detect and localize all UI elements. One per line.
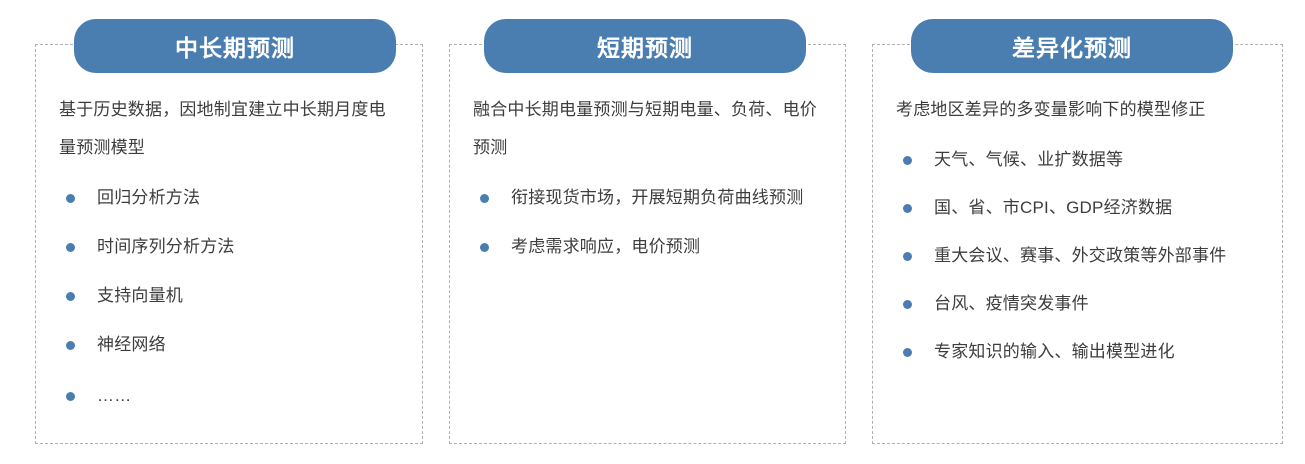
list-item: 时间序列分析方法 <box>59 230 402 263</box>
panel-body-short-term: 融合中长期电量预测与短期电量、负荷、电价预测 衔接现货市场，开展短期负荷曲线预测… <box>450 91 845 279</box>
list-item: 重大会议、赛事、外交政策等外部事件 <box>896 239 1262 272</box>
panel-body-differentiated: 考虑地区差异的多变量影响下的模型修正 天气、气候、业扩数据等 国、省、市CPI、… <box>873 91 1282 383</box>
list-item-label: 衔接现货市场，开展短期负荷曲线预测 <box>511 188 803 207</box>
list-item-label: 时间序列分析方法 <box>97 237 235 256</box>
list-item-label: 考虑需求响应，电价预测 <box>511 237 700 256</box>
bullet-dot-icon <box>903 156 912 165</box>
list-item-label: 支持向量机 <box>97 286 183 305</box>
list-item: …… <box>59 379 402 412</box>
list-item-label: 天气、气候、业扩数据等 <box>934 150 1123 169</box>
bullet-dot-icon <box>903 300 912 309</box>
bullet-dot-icon <box>66 392 75 401</box>
panel-body-medium-long-term: 基于历史数据，因地制宜建立中长期月度电量预测模型 回归分析方法 时间序列分析方法… <box>36 91 422 428</box>
list-item-label: 专家知识的输入、输出模型进化 <box>934 342 1175 361</box>
list-item: 神经网络 <box>59 328 402 361</box>
bullet-dot-icon <box>903 252 912 261</box>
bullet-dot-icon <box>903 348 912 357</box>
panel-title-differentiated: 差异化预测 <box>911 19 1233 73</box>
list-item: 国、省、市CPI、GDP经济数据 <box>896 191 1262 224</box>
bullet-list: 天气、气候、业扩数据等 国、省、市CPI、GDP经济数据 重大会议、赛事、外交政… <box>896 143 1262 368</box>
bullet-dot-icon <box>480 194 489 203</box>
bullet-dot-icon <box>480 243 489 252</box>
panel-medium-long-term-forecast: 中长期预测 基于历史数据，因地制宜建立中长期月度电量预测模型 回归分析方法 时间… <box>35 44 423 444</box>
list-item: 台风、疫情突发事件 <box>896 287 1262 320</box>
panel-description: 基于历史数据，因地制宜建立中长期月度电量预测模型 <box>59 91 402 167</box>
list-item: 天气、气候、业扩数据等 <box>896 143 1262 176</box>
list-item-label: 神经网络 <box>97 335 166 354</box>
list-item-label: 台风、疫情突发事件 <box>934 294 1089 313</box>
forecast-panels-board: 中长期预测 基于历史数据，因地制宜建立中长期月度电量预测模型 回归分析方法 时间… <box>0 0 1305 464</box>
bullet-dot-icon <box>66 341 75 350</box>
list-item: 衔接现货市场，开展短期负荷曲线预测 <box>473 181 825 214</box>
list-item-label: …… <box>97 386 131 405</box>
list-item: 考虑需求响应，电价预测 <box>473 230 825 263</box>
panel-title-short-term: 短期预测 <box>484 19 806 73</box>
bullet-dot-icon <box>903 204 912 213</box>
list-item: 专家知识的输入、输出模型进化 <box>896 335 1262 368</box>
list-item-label: 国、省、市CPI、GDP经济数据 <box>934 198 1172 217</box>
panel-title-medium-long-term: 中长期预测 <box>74 19 396 73</box>
panel-differentiated-forecast: 差异化预测 考虑地区差异的多变量影响下的模型修正 天气、气候、业扩数据等 国、省… <box>872 44 1283 444</box>
bullet-list: 衔接现货市场，开展短期负荷曲线预测 考虑需求响应，电价预测 <box>473 181 825 263</box>
bullet-list: 回归分析方法 时间序列分析方法 支持向量机 神经网络 …… <box>59 181 402 412</box>
list-item: 回归分析方法 <box>59 181 402 214</box>
list-item: 支持向量机 <box>59 279 402 312</box>
bullet-dot-icon <box>66 243 75 252</box>
panel-description: 考虑地区差异的多变量影响下的模型修正 <box>896 91 1262 129</box>
panel-description: 融合中长期电量预测与短期电量、负荷、电价预测 <box>473 91 825 167</box>
list-item-label: 回归分析方法 <box>97 188 200 207</box>
bullet-dot-icon <box>66 194 75 203</box>
bullet-dot-icon <box>66 292 75 301</box>
panel-short-term-forecast: 短期预测 融合中长期电量预测与短期电量、负荷、电价预测 衔接现货市场，开展短期负… <box>449 44 846 444</box>
list-item-label: 重大会议、赛事、外交政策等外部事件 <box>934 246 1226 265</box>
